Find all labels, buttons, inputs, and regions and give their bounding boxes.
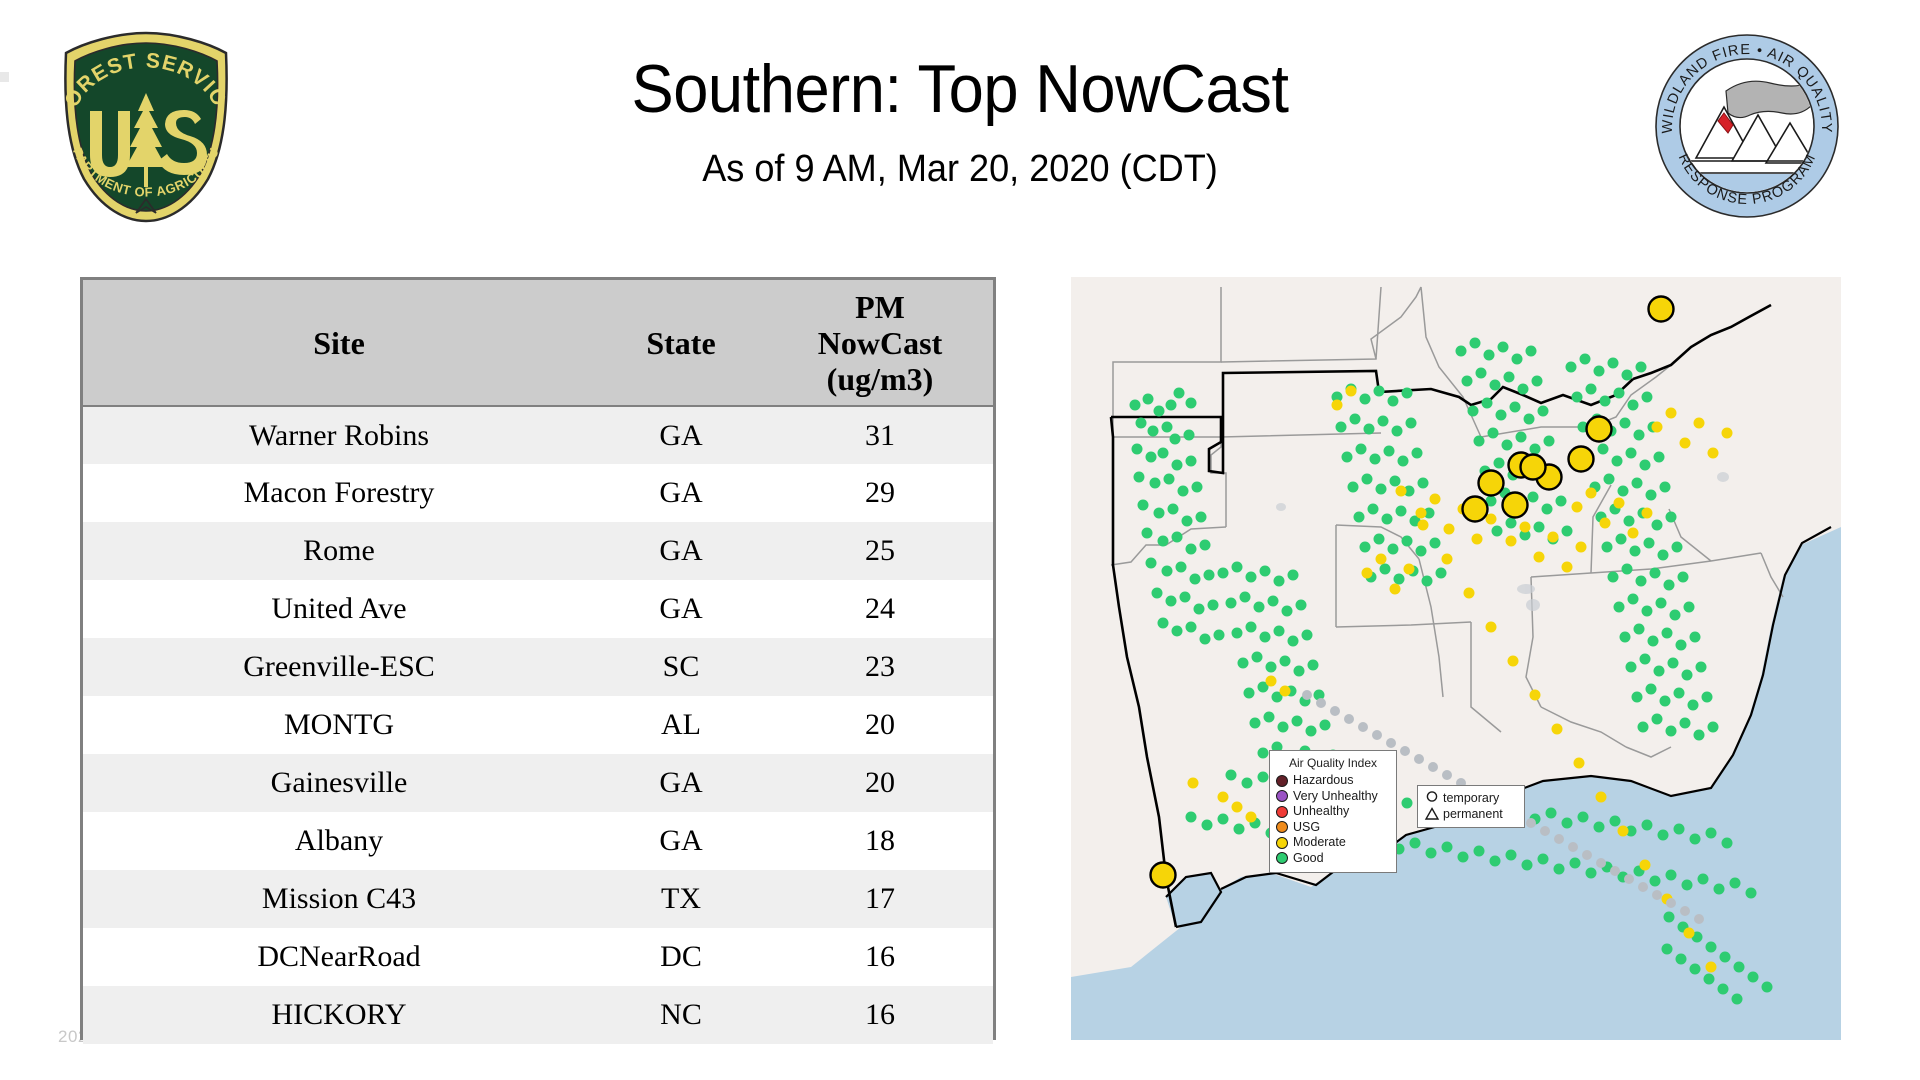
monitor-point	[1472, 534, 1483, 545]
table-cell-site: Warner Robins	[83, 406, 595, 464]
monitor-point	[1722, 838, 1733, 849]
table-cell-site: MONTG	[83, 696, 595, 754]
air-quality-map[interactable]: Air Quality Index HazardousVery Unhealth…	[1071, 277, 1841, 1040]
table-row: Mission C43TX17	[83, 870, 993, 928]
monitor-point	[1554, 834, 1564, 844]
monitor-point	[1610, 816, 1621, 827]
monitor-point	[1666, 898, 1676, 908]
monitor-point	[1416, 508, 1427, 519]
monitor-point	[1226, 598, 1237, 609]
monitor-point	[1336, 422, 1347, 433]
monitor-point	[1250, 718, 1261, 729]
monitor-point	[1652, 714, 1663, 725]
monitor-point	[1548, 532, 1559, 543]
monitor-point	[1534, 522, 1545, 533]
table-cell-state: SC	[595, 638, 767, 696]
monitor-point	[1176, 562, 1187, 573]
monitor-point	[1636, 576, 1647, 587]
monitor-point	[1528, 492, 1539, 503]
table-cell-site: Gainesville	[83, 754, 595, 812]
monitor-point	[1576, 542, 1587, 553]
monitor-point	[1530, 690, 1541, 701]
table-row: RomeGA25	[83, 522, 993, 580]
monitor-point	[1246, 812, 1257, 823]
monitor-point	[1492, 526, 1503, 537]
aqi-legend-item: Moderate	[1276, 835, 1390, 851]
monitor-point	[1218, 568, 1229, 579]
monitor-point	[1540, 826, 1550, 836]
monitor-point	[1762, 982, 1773, 993]
monitor-point	[1430, 538, 1441, 549]
monitor-point	[1162, 566, 1173, 577]
aqi-legend-item: Unhealthy	[1276, 804, 1390, 820]
monitor-point-highlighted	[1587, 417, 1612, 442]
monitor-point	[1626, 448, 1637, 459]
monitor-point	[1502, 440, 1513, 451]
monitor-point	[1384, 446, 1395, 457]
table-cell-pm-nowcast: 17	[767, 870, 993, 928]
table-row: Macon ForestryGA29	[83, 464, 993, 522]
monitor-point	[1622, 564, 1633, 575]
monitor-point	[1464, 588, 1475, 599]
monitor-point	[1574, 758, 1585, 769]
monitor-point	[1348, 482, 1359, 493]
monitor-point	[1354, 512, 1365, 523]
monitor-point	[1406, 418, 1417, 429]
monitor-point-highlighted	[1503, 493, 1528, 518]
monitor-point	[1360, 394, 1371, 405]
column-header-site: Site	[83, 280, 595, 406]
symbol-legend-label-temporary: temporary	[1443, 792, 1499, 805]
monitor-point	[1662, 628, 1673, 639]
table-row: DCNearRoadDC16	[83, 928, 993, 986]
aqi-legend-swatch-icon	[1276, 852, 1288, 864]
aqi-legend-label: Hazardous	[1293, 774, 1353, 787]
monitor-point	[1186, 398, 1197, 409]
monitor-point	[1628, 528, 1639, 539]
monitor-point	[1706, 962, 1717, 973]
table-cell-site: United Ave	[83, 580, 595, 638]
monitor-point	[1428, 762, 1438, 772]
aqi-legend-label: Moderate	[1293, 836, 1346, 849]
monitor-point	[1640, 654, 1651, 665]
monitor-point	[1380, 564, 1391, 575]
table-row: AlbanyGA18	[83, 812, 993, 870]
monitor-point	[1186, 622, 1197, 633]
monitor-point	[1288, 570, 1299, 581]
column-header-pm-line1: PM	[771, 289, 989, 325]
monitor-point	[1302, 630, 1313, 641]
monitor-point	[1682, 880, 1693, 891]
monitor-point	[1614, 498, 1625, 509]
monitor-point-highlighted	[1479, 471, 1504, 496]
monitor-point	[1200, 540, 1211, 551]
monitor-point	[1356, 444, 1367, 455]
aqi-legend-swatch-icon	[1276, 821, 1288, 833]
monitor-point	[1368, 504, 1379, 515]
table-cell-site: Albany	[83, 812, 595, 870]
monitor-point	[1364, 424, 1375, 435]
monitor-point	[1214, 630, 1225, 641]
monitor-point	[1582, 850, 1592, 860]
monitor-point	[1402, 798, 1413, 809]
monitor-point	[1616, 534, 1627, 545]
monitor-point	[1586, 384, 1597, 395]
monitor-point	[1232, 628, 1243, 639]
monitor-point	[1414, 754, 1424, 764]
monitor-point	[1182, 516, 1193, 527]
monitor-point	[1608, 572, 1619, 583]
monitor-point	[1376, 484, 1387, 495]
monitor-point	[1654, 452, 1665, 463]
monitor-point	[1280, 656, 1291, 667]
monitor-point	[1642, 820, 1653, 831]
monitor-point	[1504, 372, 1515, 383]
symbol-legend-row-temporary: temporary	[1424, 790, 1519, 806]
monitor-point	[1704, 974, 1715, 985]
monitor-point	[1748, 972, 1759, 983]
monitor-point	[1430, 494, 1441, 505]
monitor-point	[1620, 632, 1631, 643]
monitor-point	[1680, 906, 1690, 916]
monitor-point	[1618, 486, 1629, 497]
monitor-point	[1496, 410, 1507, 421]
monitor-point-highlighted	[1151, 863, 1176, 888]
monitor-point	[1662, 944, 1673, 955]
monitor-point	[1192, 482, 1203, 493]
monitor-point	[1658, 550, 1669, 561]
monitor-point	[1690, 632, 1701, 643]
table-cell-pm-nowcast: 31	[767, 406, 993, 464]
table-row: GainesvilleGA20	[83, 754, 993, 812]
monitor-point	[1148, 426, 1159, 437]
table-cell-state: TX	[595, 870, 767, 928]
monitor-point	[1172, 626, 1183, 637]
monitor-point-highlighted	[1463, 497, 1488, 522]
monitor-point	[1648, 636, 1659, 647]
monitor-point	[1166, 400, 1177, 411]
monitor-point	[1596, 858, 1606, 868]
monitor-point	[1388, 544, 1399, 555]
table-cell-pm-nowcast: 16	[767, 986, 993, 1044]
temporary-circle-icon	[1424, 790, 1440, 806]
monitor-point	[1640, 460, 1651, 471]
monitor-point	[1620, 418, 1631, 429]
monitor-point	[1508, 656, 1519, 667]
aqi-legend-title: Air Quality Index	[1276, 756, 1390, 770]
monitor-point	[1170, 434, 1181, 445]
column-header-pm-line2: NowCast	[771, 325, 989, 361]
monitor-point	[1468, 406, 1479, 417]
monitor-point	[1350, 414, 1361, 425]
monitor-point	[1238, 658, 1249, 669]
monitor-point	[1134, 472, 1145, 483]
monitor-point	[1358, 722, 1368, 732]
monitor-point	[1294, 666, 1305, 677]
monitor-point	[1260, 632, 1271, 643]
monitor-point	[1608, 358, 1619, 369]
monitor-point	[1578, 812, 1589, 823]
monitor-point	[1302, 690, 1312, 700]
monitor-point	[1204, 570, 1215, 581]
monitor-point	[1388, 396, 1399, 407]
monitor-point	[1158, 618, 1169, 629]
monitor-point	[1628, 594, 1639, 605]
monitor-point	[1168, 504, 1179, 515]
monitor-point	[1346, 386, 1357, 397]
monitor-point	[1416, 546, 1427, 557]
aqi-legend-item: Very Unhealthy	[1276, 789, 1390, 805]
monitor-point	[1232, 562, 1243, 573]
monitor-point	[1394, 574, 1405, 585]
monitor-point	[1154, 508, 1165, 519]
monitor-point	[1624, 874, 1634, 884]
table-cell-site: Macon Forestry	[83, 464, 595, 522]
monitor-point	[1412, 448, 1423, 459]
monitor-point	[1572, 392, 1583, 403]
table-cell-site: Mission C43	[83, 870, 595, 928]
monitor-point	[1342, 452, 1353, 463]
monitor-point	[1706, 942, 1717, 953]
monitor-point	[1370, 454, 1381, 465]
monitor-point	[1180, 592, 1191, 603]
monitor-point	[1684, 928, 1695, 939]
monitor-point	[1624, 516, 1635, 527]
monitor-point	[1676, 954, 1687, 965]
monitor-point	[1642, 392, 1653, 403]
monitor-point	[1402, 388, 1413, 399]
monitor-point	[1288, 636, 1299, 647]
monitor-point	[1418, 478, 1429, 489]
monitor-point	[1622, 370, 1633, 381]
monitor-point	[1706, 828, 1717, 839]
monitor-point	[1630, 546, 1641, 557]
monitor-point	[1418, 520, 1429, 531]
monitor-point	[1698, 874, 1709, 885]
monitor-point	[1398, 456, 1409, 467]
monitor-point	[1580, 354, 1591, 365]
monitor-point	[1568, 842, 1578, 852]
aqi-legend-item: Good	[1276, 851, 1390, 867]
monitor-point	[1382, 514, 1393, 525]
table-cell-state: NC	[595, 986, 767, 1044]
monitor-point	[1372, 730, 1382, 740]
monitor-point	[1566, 362, 1577, 373]
wildland-fire-air-quality-icon: WILDLAND FIRE • AIR QUALITY RESPONSE PRO…	[1654, 33, 1840, 219]
monitor-point	[1242, 778, 1253, 789]
monitor-point	[1266, 676, 1277, 687]
monitor-point	[1720, 952, 1731, 963]
table-header-row: Site State PM NowCast (ug/m3)	[83, 280, 993, 406]
table-cell-state: GA	[595, 754, 767, 812]
monitor-point	[1190, 574, 1201, 585]
monitor-point	[1534, 552, 1545, 563]
monitor-point	[1374, 386, 1385, 397]
monitor-point	[1690, 834, 1701, 845]
monitor-point	[1660, 482, 1671, 493]
monitor-point	[1600, 518, 1611, 529]
monitor-point	[1602, 542, 1613, 553]
monitor-point	[1320, 720, 1331, 731]
page-title: Southern: Top NowCast	[346, 52, 1574, 126]
monitor-point	[1642, 508, 1653, 519]
monitor-point	[1708, 448, 1719, 459]
monitor-point	[1316, 698, 1326, 708]
monitor-point	[1244, 688, 1255, 699]
monitor-point	[1152, 588, 1163, 599]
monitor-point	[1718, 984, 1729, 995]
monitor-point	[1490, 380, 1501, 391]
aqi-legend: Air Quality Index HazardousVery Unhealth…	[1269, 750, 1397, 873]
slide-edge-mark	[0, 72, 9, 82]
monitor-point	[1258, 772, 1269, 783]
monitor-point	[1638, 722, 1649, 733]
monitor-point	[1642, 606, 1653, 617]
monitor-point	[1268, 596, 1279, 607]
monitor-point	[1264, 712, 1275, 723]
monitor-point	[1208, 600, 1219, 611]
monitor-point	[1586, 488, 1597, 499]
monitor-point	[1158, 448, 1169, 459]
monitor-point	[1666, 408, 1677, 419]
table-body: Warner RobinsGA31Macon ForestryGA29RomeG…	[83, 406, 993, 1044]
monitor-point	[1530, 444, 1541, 455]
monitor-point	[1650, 568, 1661, 579]
monitor-point	[1186, 544, 1197, 555]
monitor-point	[1226, 770, 1237, 781]
monitor-point	[1656, 598, 1667, 609]
monitor-point	[1570, 858, 1581, 869]
monitor-point	[1614, 602, 1625, 613]
monitor-point	[1360, 542, 1371, 553]
monitor-point	[1376, 554, 1387, 565]
monitor-point	[1746, 888, 1757, 899]
monitor-point	[1684, 602, 1695, 613]
monitor-point	[1634, 624, 1645, 635]
monitor-point	[1598, 444, 1609, 455]
monitor-point	[1516, 432, 1527, 443]
monitor-point	[1474, 846, 1485, 857]
monitor-point	[1554, 864, 1565, 875]
monitor-point	[1652, 890, 1662, 900]
monitor-point	[1628, 400, 1639, 411]
monitor-point	[1484, 350, 1495, 361]
monitor-point	[1392, 426, 1403, 437]
monitor-point	[1240, 592, 1251, 603]
monitor-point	[1614, 388, 1625, 399]
monitor-point-highlighted	[1649, 297, 1674, 322]
monitor-point	[1374, 534, 1385, 545]
monitor-point	[1596, 792, 1607, 803]
table-cell-pm-nowcast: 20	[767, 696, 993, 754]
table-row: HICKORYNC16	[83, 986, 993, 1044]
monitor-point	[1488, 428, 1499, 439]
monitor-point	[1506, 518, 1517, 529]
table-cell-pm-nowcast: 16	[767, 928, 993, 986]
monitor-point	[1172, 532, 1183, 543]
monitor-point	[1186, 812, 1197, 823]
monitor-point	[1518, 384, 1529, 395]
aqi-legend-swatch-icon	[1276, 806, 1288, 818]
column-header-pm-nowcast: PM NowCast (ug/m3)	[767, 280, 993, 406]
monitor-point	[1444, 524, 1455, 535]
monitor-point	[1188, 778, 1199, 789]
table-cell-pm-nowcast: 29	[767, 464, 993, 522]
table-row: MONTGAL20	[83, 696, 993, 754]
monitor-point	[1132, 444, 1143, 455]
monitor-point	[1680, 438, 1691, 449]
monitor-point	[1136, 418, 1147, 429]
monitor-point	[1378, 416, 1389, 427]
table-cell-state: GA	[595, 580, 767, 638]
monitor-point	[1436, 568, 1447, 579]
monitor-point	[1506, 850, 1517, 861]
monitor-point	[1332, 400, 1343, 411]
monitor-point	[1218, 792, 1229, 803]
monitor-point	[1538, 406, 1549, 417]
monitor-point	[1442, 842, 1453, 853]
monitor-point	[1470, 338, 1481, 349]
monitor-point	[1218, 814, 1229, 825]
monitor-point	[1730, 878, 1741, 889]
monitor-point	[1150, 478, 1161, 489]
table-row: United AveGA24	[83, 580, 993, 638]
monitor-point	[1694, 730, 1705, 741]
monitor-point	[1676, 640, 1687, 651]
monitor-point	[1282, 606, 1293, 617]
monitor-point	[1486, 622, 1497, 633]
monitor-point	[1664, 580, 1675, 591]
monitor-point	[1258, 748, 1269, 759]
monitor-point	[1146, 558, 1157, 569]
monitor-point	[1694, 418, 1705, 429]
monitor-point	[1644, 538, 1655, 549]
permanent-triangle-icon	[1424, 806, 1440, 822]
monitor-point	[1292, 716, 1303, 727]
monitor-point	[1668, 658, 1679, 669]
monitor-point	[1650, 876, 1661, 887]
monitor-point	[1532, 376, 1543, 387]
monitor-point	[1546, 808, 1557, 819]
monitor-point	[1658, 830, 1669, 841]
monitor-point	[1162, 422, 1173, 433]
monitor-point	[1680, 718, 1691, 729]
usda-forest-service-logo: FOREST SERVICE DEPARTMENT OF AGRICULTURE	[48, 27, 244, 223]
monitor-point	[1482, 398, 1493, 409]
monitor-point	[1494, 458, 1505, 469]
monitor-point	[1260, 566, 1271, 577]
monitor-point	[1462, 376, 1473, 387]
monitor-point	[1474, 436, 1485, 447]
monitor-point	[1390, 476, 1401, 487]
monitor-point	[1172, 460, 1183, 471]
monitor-point	[1522, 860, 1533, 871]
top-nowcast-table-container: Site State PM NowCast (ug/m3) Warner Rob…	[80, 277, 996, 1040]
monitor-point	[1130, 400, 1141, 411]
monitor-point	[1708, 722, 1719, 733]
monitor-point	[1670, 610, 1681, 621]
monitor-point	[1640, 860, 1651, 871]
monitor-point	[1714, 884, 1725, 895]
monitor-point	[1246, 572, 1257, 583]
monitor-point	[1266, 662, 1277, 673]
map-canvas	[1071, 277, 1841, 1040]
table-cell-pm-nowcast: 23	[767, 638, 993, 696]
monitor-point	[1174, 388, 1185, 399]
monitor-point	[1652, 422, 1663, 433]
symbol-legend-label-permanent: permanent	[1443, 808, 1503, 821]
monitor-point	[1646, 684, 1657, 695]
